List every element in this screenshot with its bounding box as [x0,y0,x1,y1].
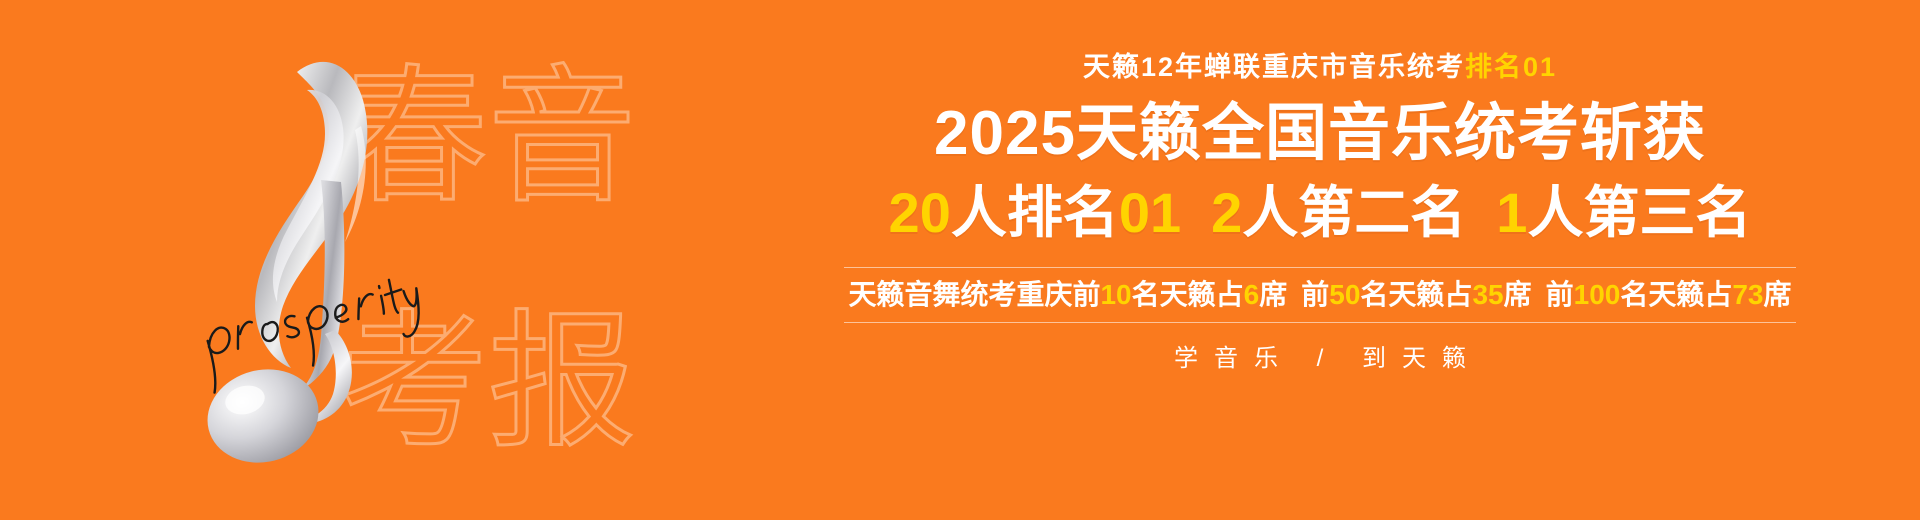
subhead-rank1-label: 人排名 [951,181,1119,244]
eyebrow-white-text: 天籁12年蝉联重庆市音乐统考 [1083,52,1465,82]
stats-line: 天籁音舞统考重庆前10名天籁占6席前50名天籁占35席前100名天籁占73席 [844,267,1795,323]
headline: 2025天籁全国音乐统考斩获 [934,103,1706,165]
stats-top10-value: 10 [1100,279,1131,310]
promo-banner: 春 音 考 报 [0,0,1920,520]
subhead-rank1-value: 01 [1119,181,1181,244]
ghost-char-4: 报 [488,259,636,504]
copy-panel: 天籁12年蝉联重庆市音乐统考排名01 2025天籁全国音乐统考斩获 20人排名0… [720,0,1920,520]
stats-top100-label: 名天籁占 [1620,279,1732,310]
stats-lead: 天籁音舞统考重庆前 [848,279,1100,310]
stats-top10-unit: 席 [1259,279,1287,310]
artwork-panel: 春 音 考 报 [0,0,720,520]
subhead-rank2-label: 人第二名 [1242,181,1466,244]
subhead-rank3-label: 人第三名 [1527,181,1751,244]
subhead-line: 20人排名012人第二名1人第三名 [889,185,1752,241]
stats-top50-label: 名天籁占 [1360,279,1472,310]
stats-top50-unit: 席 [1504,279,1532,310]
stats-top10-seats: 6 [1244,279,1260,310]
eyebrow-highlight-text: 排名01 [1465,52,1557,82]
subhead-rank2-count: 2 [1211,181,1242,244]
stats-top50-prefix: 前 [1301,279,1329,310]
subhead-rank1-count: 20 [889,181,951,244]
stats-top50-seats: 35 [1472,279,1503,310]
stats-top100-unit: 席 [1764,279,1792,310]
slogan: 学音乐 / 到天籁 [1158,347,1482,371]
subhead-rank3-count: 1 [1496,181,1527,244]
stats-top50-value: 50 [1329,279,1360,310]
stats-top100-seats: 73 [1732,279,1763,310]
ghost-char-2: 音 [488,14,636,259]
stats-top10-label: 名天籁占 [1132,279,1244,310]
stats-top100-prefix: 前 [1546,279,1574,310]
eyebrow-line: 天籁12年蝉联重庆市音乐统考排名01 [1083,54,1557,81]
stats-top100-value: 100 [1574,279,1621,310]
